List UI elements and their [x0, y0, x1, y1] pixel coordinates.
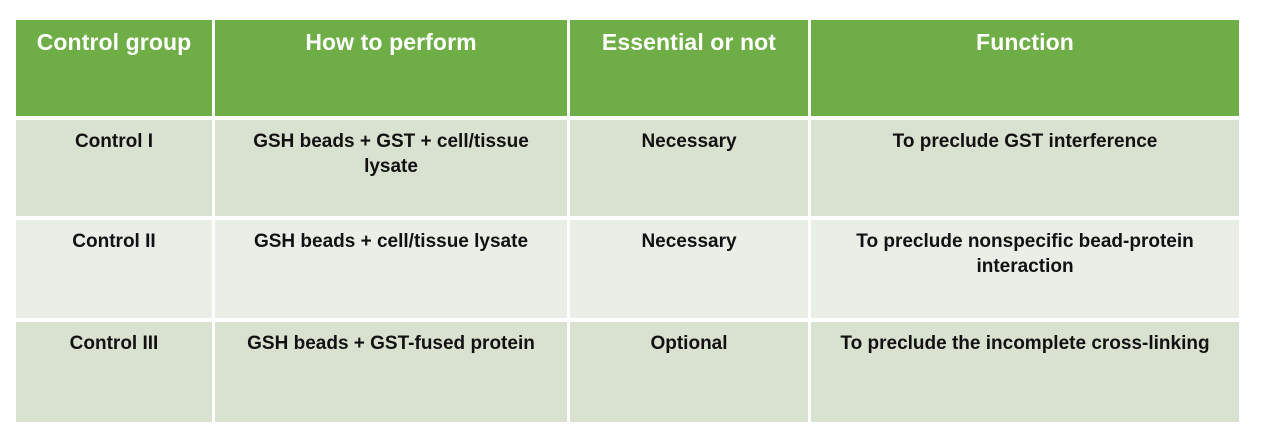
control-groups-table: Control group How to perform Essential o… — [13, 16, 1242, 426]
table-header-row: Control group How to perform Essential o… — [16, 20, 1239, 116]
table-header: Control group How to perform Essential o… — [16, 20, 1239, 116]
table-row: Control II GSH beads + cell/tissue lysat… — [16, 220, 1239, 318]
table-body: Control I GSH beads + GST + cell/tissue … — [16, 120, 1239, 422]
column-header-how-to-perform: How to perform — [215, 20, 567, 116]
cell-essential-or-not: Optional — [570, 322, 808, 422]
column-header-control-group: Control group — [16, 20, 212, 116]
cell-function: To preclude nonspecific bead-protein int… — [811, 220, 1239, 318]
cell-control-group: Control II — [16, 220, 212, 318]
column-header-essential-or-not: Essential or not — [570, 20, 808, 116]
table-row: Control III GSH beads + GST-fused protei… — [16, 322, 1239, 422]
cell-how-to-perform: GSH beads + cell/tissue lysate — [215, 220, 567, 318]
control-table-container: Control group How to perform Essential o… — [16, 18, 1240, 423]
cell-control-group: Control I — [16, 120, 212, 216]
cell-how-to-perform: GSH beads + GST + cell/tissue lysate — [215, 120, 567, 216]
cell-function: To preclude GST interference — [811, 120, 1239, 216]
table-row: Control I GSH beads + GST + cell/tissue … — [16, 120, 1239, 216]
cell-essential-or-not: Necessary — [570, 220, 808, 318]
cell-how-to-perform: GSH beads + GST-fused protein — [215, 322, 567, 422]
cell-function: To preclude the incomplete cross-linking — [811, 322, 1239, 422]
cell-control-group: Control III — [16, 322, 212, 422]
cell-essential-or-not: Necessary — [570, 120, 808, 216]
column-header-function: Function — [811, 20, 1239, 116]
